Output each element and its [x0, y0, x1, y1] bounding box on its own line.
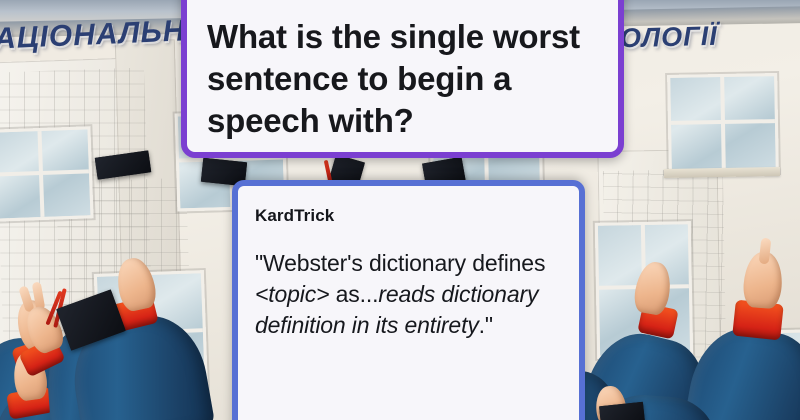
- answer-card: KardTrick "Webster's dictionary defines …: [232, 180, 585, 420]
- meme-image: АЦІОНАЛЬНИ ОЛОГІЇ: [0, 0, 800, 420]
- building-window: [667, 73, 779, 175]
- answer-quote-text: "Webster's dictionary defines <topic> as…: [255, 248, 561, 340]
- building-sign-right: ОЛОГІЇ: [620, 21, 719, 55]
- answer-username: KardTrick: [255, 206, 561, 226]
- question-card: What is the single worst sentence to beg…: [181, 0, 624, 158]
- question-text: What is the single worst sentence to beg…: [187, 0, 618, 142]
- building-window: [0, 126, 94, 222]
